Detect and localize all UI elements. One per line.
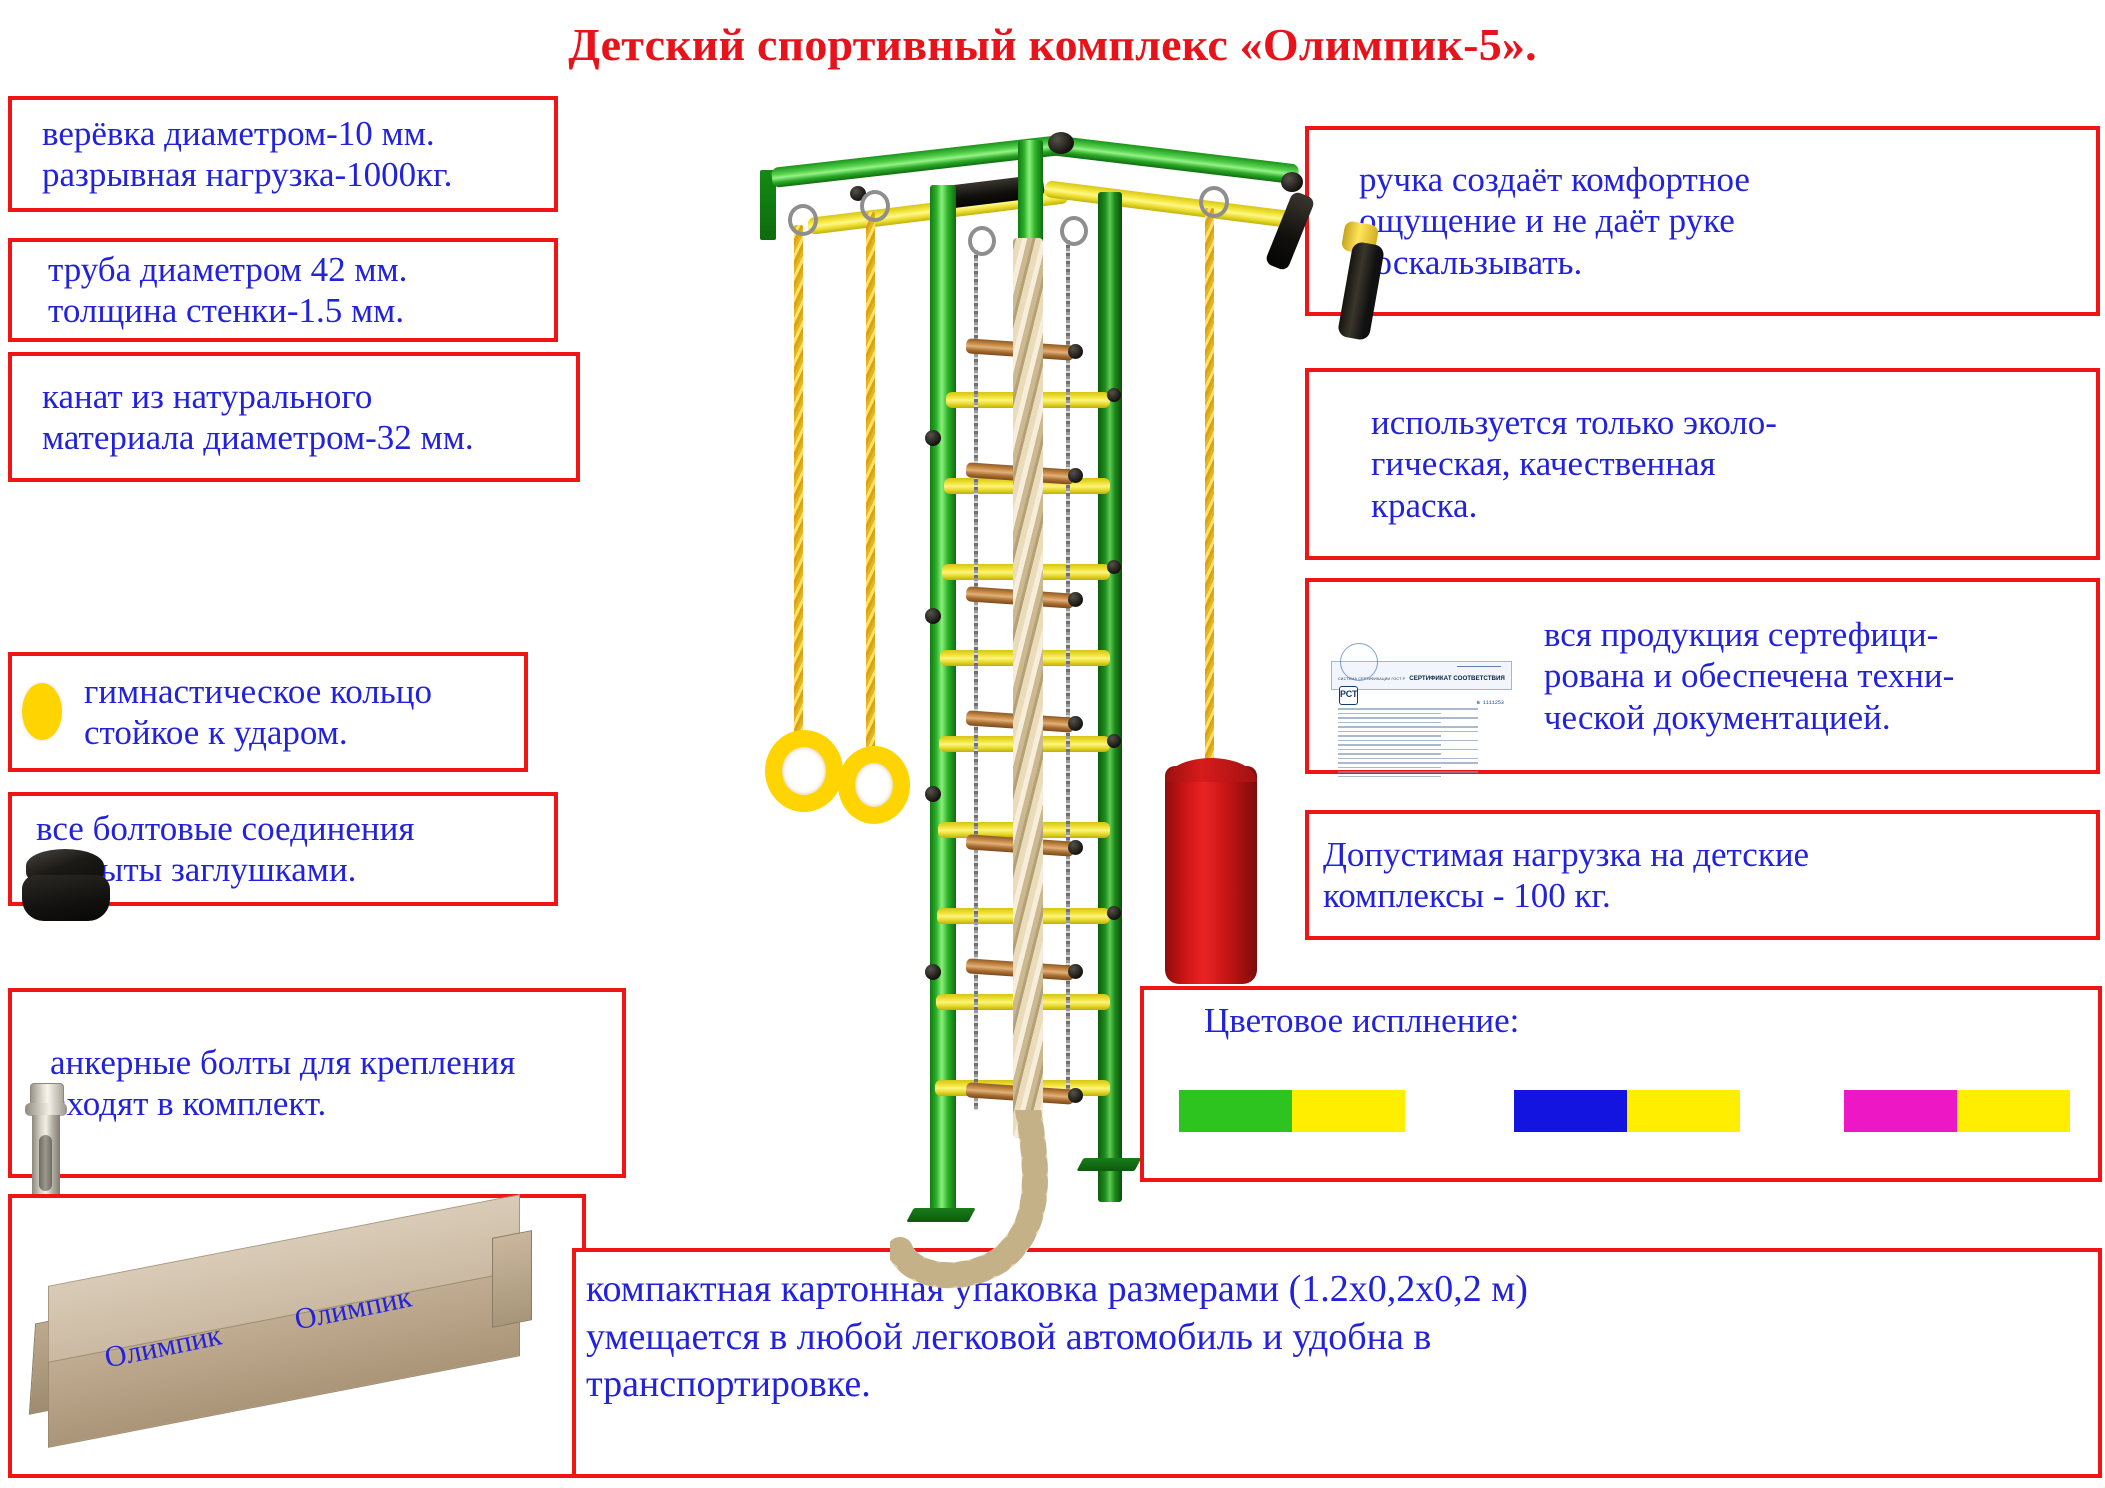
poster-root: Детский спортивный комплекс «Олимпик-5».… xyxy=(0,0,2105,1488)
feature-box-handle: ручка создаёт комфортное ощущение и не д… xyxy=(1305,126,2100,316)
end-cap-icon xyxy=(1107,734,1121,748)
green-horizontal-bar xyxy=(1049,135,1300,184)
end-cap-icon xyxy=(925,430,941,446)
end-cap-icon xyxy=(1068,344,1083,359)
page-title: Детский спортивный комплекс «Олимпик-5». xyxy=(0,18,2105,71)
certificate-signature-icon xyxy=(1457,661,1501,667)
end-cap-icon xyxy=(1107,560,1121,574)
cardboard-box-icon: Олимпик Олимпик xyxy=(26,1212,546,1452)
punching-bag-rope xyxy=(1205,208,1214,768)
end-cap-icon xyxy=(925,608,941,624)
feature-box-rope: верёвка диаметром-10 мм. разрывная нагру… xyxy=(8,96,558,212)
swatch-yellow xyxy=(1957,1090,2070,1132)
end-cap-icon xyxy=(1107,906,1121,920)
end-cap-icon xyxy=(1068,592,1083,607)
end-cap-icon xyxy=(1068,840,1083,855)
end-cap-icon xyxy=(925,964,941,980)
feature-box-ring-text: гимнастическое кольцо стойкое к ударом. xyxy=(84,671,432,754)
climbing-rope-curve xyxy=(890,1110,1130,1290)
eye-hook-icon xyxy=(1199,186,1229,218)
feature-box-pipe: труба диаметром 42 мм. толщина стенки-1.… xyxy=(8,238,558,342)
packaging-text-box: компактная картонная упаковка размерами … xyxy=(572,1248,2102,1478)
feature-box-certificate-text: вся продукция сертефици- рована и обеспе… xyxy=(1544,614,1954,738)
end-cap-icon xyxy=(925,786,941,802)
punching-bag xyxy=(1165,766,1257,984)
rope-ladder-chain xyxy=(974,250,978,1110)
feature-box-natural-rope-text: канат из натурального материала диаметро… xyxy=(42,376,474,459)
end-cap-icon xyxy=(1068,964,1083,979)
eye-hook-icon xyxy=(788,204,818,236)
black-handle-grip xyxy=(1264,190,1315,271)
eye-hook-icon xyxy=(968,226,996,256)
end-cap-icon xyxy=(1068,1088,1083,1103)
end-cap-icon xyxy=(1107,388,1121,402)
green-vertical-post xyxy=(930,185,956,1210)
feature-box-anchor-bolt-text: анкерные болты для крепления входят в ко… xyxy=(50,1042,515,1125)
feature-box-handle-text: ручка создаёт комфортное ощущение и не д… xyxy=(1359,159,1750,283)
certificate-heading: СЕРТИФИКАТ СООТВЕТСТВИЯ xyxy=(1409,675,1505,682)
end-cap-icon xyxy=(1048,132,1074,154)
swatch-blue xyxy=(1514,1090,1627,1132)
ring-rope xyxy=(866,212,875,752)
feature-box-load: Допустимая нагрузка на детские комплексы… xyxy=(1305,810,2100,940)
end-cap-icon xyxy=(1068,716,1083,731)
floor-foot xyxy=(1077,1158,1142,1171)
punching-bag-top xyxy=(1165,758,1257,782)
eye-hook-icon xyxy=(860,190,890,222)
feature-box-plug: все болтовые соединения закрыты заглушка… xyxy=(8,792,558,906)
swatch-magenta xyxy=(1844,1090,1957,1132)
packaging-image-box: Олимпик Олимпик xyxy=(8,1194,586,1478)
gymnastic-ring xyxy=(765,730,843,812)
feature-box-paint-text: используется только эколо- гическая, кач… xyxy=(1371,402,1777,526)
feature-box-rope-text: верёвка диаметром-10 мм. разрывная нагру… xyxy=(42,113,452,196)
color-swatch-magenta-yellow xyxy=(1844,1090,2070,1132)
feature-box-pipe-text: труба диаметром 42 мм. толщина стенки-1.… xyxy=(48,249,407,332)
children-sport-complex-illustration xyxy=(750,130,1360,1280)
end-cap-icon xyxy=(1068,468,1083,483)
feature-box-certificate: СИСТЕМА СЕРТИФИКАЦИИ ГОСТ Р СЕРТИФИКАТ С… xyxy=(1305,578,2100,774)
gymnastic-ring xyxy=(838,746,910,824)
feature-box-anchor-bolt: анкерные болты для крепления входят в ко… xyxy=(8,988,626,1178)
green-vertical-post xyxy=(1098,192,1122,1202)
floor-foot xyxy=(906,1208,975,1222)
feature-box-paint: используется только эколо- гическая, кач… xyxy=(1305,368,2100,560)
color-swatch-blue-yellow xyxy=(1514,1090,1740,1132)
end-cap-icon xyxy=(1281,172,1303,192)
feature-box-load-text: Допустимая нагрузка на детские комплексы… xyxy=(1323,834,1809,917)
feature-box-ring: гимнастическое кольцо стойкое к ударом. xyxy=(8,652,528,772)
gymnastic-ring-icon xyxy=(22,703,62,721)
feature-box-natural-rope: канат из натурального материала диаметро… xyxy=(8,352,580,482)
eye-hook-icon xyxy=(1060,216,1088,246)
swatch-yellow xyxy=(1627,1090,1740,1132)
ring-rope xyxy=(794,225,803,735)
climbing-rope xyxy=(1013,238,1043,1138)
